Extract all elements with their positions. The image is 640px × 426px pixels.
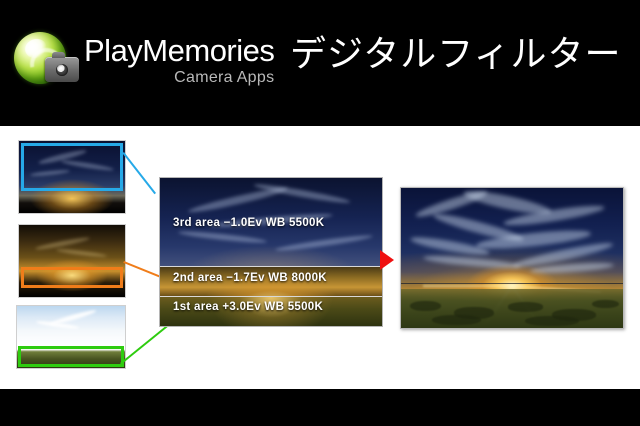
page-title: デジタルフィルター [290,32,622,76]
camera-icon [45,57,79,82]
thumbnail-2nd-area[interactable] [18,224,126,298]
caption-3rd-area: 3rd area −1.0Ev WB 5500K [173,217,324,229]
brand-lockup: PlayMemories Camera Apps [84,34,274,88]
selection-region-horizon[interactable] [21,267,123,288]
header-bar: PlayMemories Camera Apps デジタルフィルター [0,0,640,126]
caption-2nd-area: 2nd area −1.7Ev WB 8000K [173,272,327,284]
final-composited-photo[interactable] [400,187,624,329]
slide-canvas: PlayMemories Camera Apps デジタルフィルター [0,0,640,426]
thumbnail-1st-area[interactable] [16,305,126,369]
brand-tagline: Camera Apps [84,68,274,88]
selection-region-sky[interactable] [21,143,123,191]
result-ground [401,289,623,328]
segmented-preview[interactable]: 3rd area −1.0Ev WB 5500K 2nd area −1.7Ev… [159,177,383,327]
process-arrow [380,250,394,270]
selection-region-ground[interactable] [18,346,124,367]
caption-1st-area: 1st area +3.0Ev WB 5500K [173,301,323,313]
playmemories-logo-icon [12,30,82,92]
sun-ray [423,285,512,287]
camera-lens-icon [56,64,68,76]
brand-name: PlayMemories [84,34,274,68]
thumbnail-3rd-area[interactable] [18,140,126,214]
